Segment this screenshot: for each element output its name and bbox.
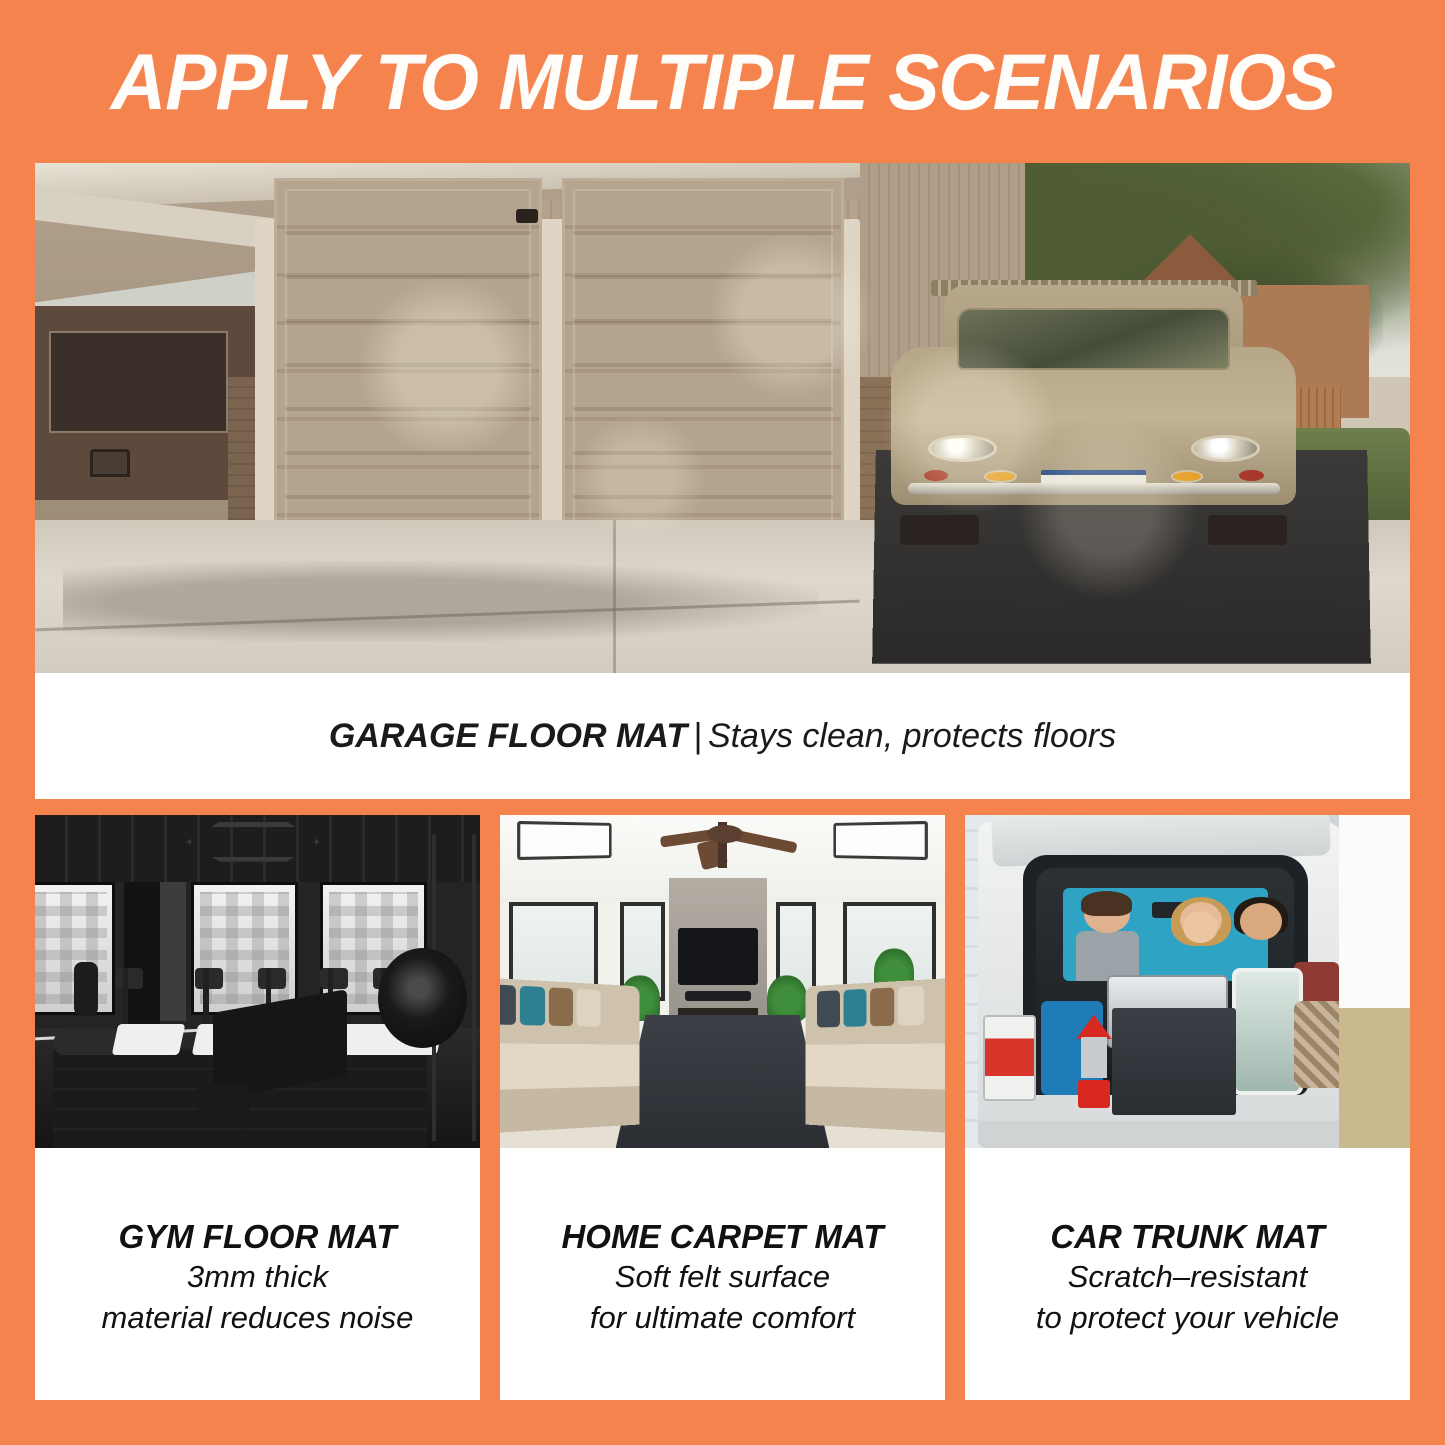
home-caption: HOME CARPET MAT Soft felt surface for ul…: [500, 1148, 945, 1400]
throw-pillow: [898, 985, 924, 1025]
throw-pillow: [500, 984, 516, 1025]
trunk-caption-line1: Scratch–resistant: [1068, 1257, 1308, 1297]
tail-light: [983, 1015, 1036, 1102]
throw-pillow: [577, 988, 601, 1026]
marker-light-left-icon: [924, 470, 948, 481]
child-passenger: [1076, 895, 1138, 982]
hero-caption-line: GARAGE FLOOR MAT|Stays clean, protects f…: [329, 717, 1116, 756]
hero-caption-title: GARAGE FLOOR MAT: [329, 717, 687, 755]
gym-caption-title: GYM FLOOR MAT: [118, 1216, 396, 1258]
woman-passenger: [1170, 902, 1232, 982]
hero-card: GARAGE FLOOR MAT|Stays clean, protects f…: [35, 163, 1410, 799]
throw-pillow: [843, 988, 867, 1026]
suv-trunk-scene-illustration: [965, 815, 1410, 1148]
soundbar: [685, 991, 752, 1001]
camping-lantern: [1076, 1015, 1112, 1108]
throw-pillow: [549, 987, 574, 1026]
sofa-right: [805, 976, 945, 1133]
hero-caption-subtitle: Stays clean, protects floors: [708, 717, 1116, 755]
home-caption-line2: for ultimate comfort: [590, 1298, 855, 1338]
car-trunk-mat: [1112, 1008, 1237, 1115]
garage-scene-illustration: [35, 163, 1410, 673]
trunk-caption-line2: to protect your vehicle: [1036, 1298, 1339, 1338]
gym-scene-illustration: [35, 815, 480, 1148]
throw-pillow: [817, 990, 840, 1027]
patio-chair: [90, 449, 130, 477]
turn-signal-right-icon: [1171, 470, 1203, 483]
hero-photo-garage: [35, 163, 1410, 673]
headlight-left-icon: [928, 435, 997, 462]
house-window: [49, 331, 228, 433]
home-photo: [500, 815, 945, 1148]
treadmill-1: [115, 968, 182, 1055]
home-caption-title: HOME CARPET MAT: [561, 1216, 883, 1258]
trunk-caption-title: CAR TRUNK MAT: [1050, 1216, 1324, 1258]
skylight-right: [834, 821, 928, 860]
living-room-scene-illustration: [500, 815, 945, 1148]
security-light-icon: [516, 209, 538, 223]
feature-card-trunk: CAR TRUNK MAT Scratch–resistant to prote…: [965, 815, 1410, 1400]
feature-card-home: HOME CARPET MAT Soft felt surface for ul…: [500, 815, 945, 1400]
gym-caption-line2: material reduces noise: [102, 1298, 414, 1338]
skylight-left: [517, 821, 611, 860]
chrome-bumper: [908, 483, 1280, 494]
potted-plant-center: [767, 975, 807, 1022]
car-body: [891, 347, 1296, 505]
squat-rack-post-right: [472, 835, 476, 1141]
throw-pillow: [520, 985, 546, 1025]
gym-caption: GYM FLOOR MAT 3mm thick material reduces…: [35, 1148, 480, 1400]
trunk-photo: [965, 815, 1410, 1148]
wall-mounted-tv: [678, 928, 758, 985]
ceiling-fan-hub-icon: [707, 825, 743, 843]
sofa-left: [500, 976, 640, 1133]
headlight-right-icon: [1191, 435, 1260, 462]
feature-card-gym: GYM FLOOR MAT 3mm thick material reduces…: [35, 815, 480, 1400]
rear-bumper: [978, 1121, 1343, 1148]
windshield: [957, 308, 1230, 369]
page-title: APPLY TO MULTIPLE SCENARIOS: [110, 36, 1334, 128]
home-caption-line1: Soft felt surface: [615, 1257, 830, 1297]
throw-pillow: [870, 987, 895, 1026]
hero-caption-separator: |: [687, 717, 708, 755]
header-banner: APPLY TO MULTIPLE SCENARIOS: [0, 0, 1445, 163]
ground-shadow: [63, 561, 819, 643]
license-plate: [1041, 470, 1146, 484]
tire-left: [900, 515, 979, 546]
home-carpet-mat: [616, 1015, 830, 1148]
vintage-car: [874, 280, 1314, 535]
marker-light-right-icon: [1239, 470, 1263, 481]
gym-caption-line1: 3mm thick: [187, 1257, 328, 1297]
trunk-caption: CAR TRUNK MAT Scratch–resistant to prote…: [965, 1148, 1410, 1400]
hero-caption: GARAGE FLOOR MAT|Stays clean, protects f…: [35, 673, 1410, 799]
tire-right: [1208, 515, 1287, 546]
turn-signal-left-icon: [984, 470, 1016, 483]
barbell-weight-plate: [378, 948, 467, 1048]
vintage-suitcase: [1232, 968, 1303, 1095]
standing-person: [1339, 815, 1410, 1148]
gym-photo: [35, 815, 480, 1148]
elliptical-machine: [53, 962, 124, 1055]
